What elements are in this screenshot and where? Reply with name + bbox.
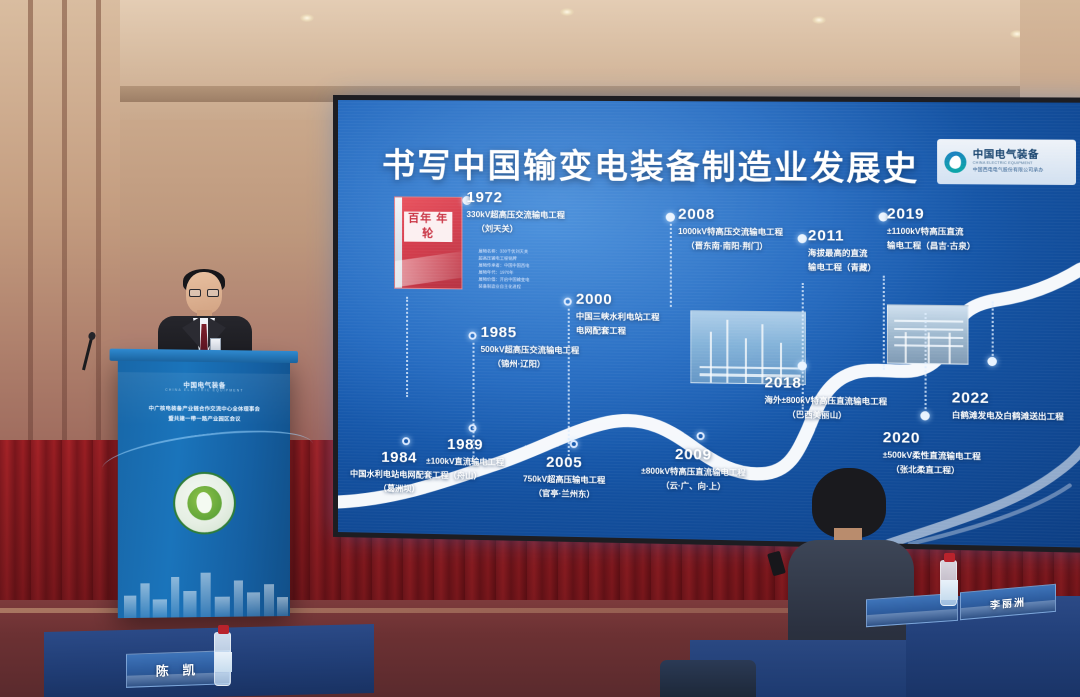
event-line2: 电网配套工程 — [576, 324, 660, 337]
event-line2: （晋东南·南阳·荆门） — [678, 239, 783, 252]
wood-strip — [62, 0, 67, 470]
event-year: 2008 — [678, 206, 783, 224]
emblem-inner-mark — [187, 486, 221, 520]
logo-mark-icon — [944, 151, 966, 173]
valve-column — [905, 332, 907, 363]
logo-subtitle: 中国西电电气股份有限公司承办 — [973, 168, 1044, 174]
timeline-event-1972[interactable]: 1972 330kV超高压交流输电工程 （刘天关） — [466, 189, 565, 235]
timeline-node-1985[interactable] — [468, 332, 476, 340]
event-line2: （云·广、向·上） — [641, 479, 746, 493]
event-year: 2022 — [952, 389, 1064, 408]
podium-banner-line1: 中广核电装备产业链合作交流中心全体理事会 — [149, 404, 260, 413]
event-year: 2009 — [641, 445, 746, 464]
converter-station-photo-2019 — [887, 304, 969, 364]
skyline-building — [215, 597, 230, 617]
podium-logo-subtitle: CHINA ELECTRIC EQUIPMENT — [165, 388, 243, 393]
event-line2: （巴西美丽山） — [764, 408, 887, 422]
event-year: 1985 — [481, 324, 580, 342]
event-line2: （刘天关） — [466, 222, 565, 235]
timeline-connector — [406, 297, 408, 397]
event-year: 1989 — [426, 435, 504, 453]
insulator-row — [700, 366, 801, 369]
event-year: 2018 — [764, 374, 887, 393]
ceiling-band — [0, 86, 1080, 102]
wood-strip — [28, 0, 33, 470]
artifact-description: 展物名称：330千伏刘天关 超高压输电工程铭牌 展物传承者：中国中国西电 展物年… — [479, 247, 560, 290]
timeline-event-2005[interactable]: 2005 750kV超高压输电工程 （官亭·兰州东） — [523, 453, 605, 500]
bottle-cap — [218, 625, 229, 634]
timeline-node-2000[interactable] — [564, 298, 572, 306]
event-line2: （官亭·兰州东） — [523, 486, 605, 500]
skyline-building — [153, 599, 167, 617]
skyline-building — [171, 577, 179, 618]
timeline-event-2000[interactable]: 2000 中国三峡水利电站工程 电网配套工程 — [576, 291, 660, 338]
event-line2: 输电工程（青藏） — [808, 261, 876, 274]
event-line1: 1000kV特高压交流输电工程 — [678, 225, 783, 238]
podium-top-surface — [110, 349, 298, 363]
skyline-building — [247, 592, 260, 616]
event-year: 2000 — [576, 291, 660, 309]
ceiling-downlight — [812, 16, 826, 24]
timeline-event-2011[interactable]: 2011 海拔最高的直流 输电工程（青藏） — [808, 227, 876, 274]
artifact-book-photo: 百年 年轮 — [394, 196, 462, 289]
timeline-node-2008[interactable] — [666, 213, 675, 222]
skyline-building — [124, 596, 136, 618]
skyline-building — [277, 597, 288, 616]
audience-chair — [660, 660, 756, 697]
speaker-glasses — [189, 289, 219, 297]
water-bottle — [940, 560, 957, 606]
timeline-event-2019[interactable]: 2019 ±1100kV特高压直流 输电工程（昌吉·古泉） — [887, 205, 976, 252]
event-line1: 330kV超高压交流输电工程 — [466, 208, 565, 221]
event-year: 2011 — [808, 227, 876, 245]
event-line2 — [952, 423, 1064, 425]
timeline-event-1985[interactable]: 1985 500kV超高压交流输电工程 （锦州·辽阳） — [481, 324, 580, 371]
timeline-connector — [670, 224, 672, 307]
timeline-node-1984[interactable] — [402, 437, 410, 445]
valve-hall-line — [894, 328, 963, 331]
valve-column — [928, 332, 930, 363]
artifact-line: 装备制造业自主化进程 — [479, 283, 560, 291]
event-line1: ±500kV柔性直流输电工程 — [883, 448, 981, 462]
podium-banner-line2: 暨共建一带一路产业园区会议 — [168, 414, 240, 423]
event-line1: 500kV超高压交流输电工程 — [481, 343, 580, 356]
skyline-building — [201, 573, 211, 617]
skyline-building — [183, 591, 196, 617]
association-emblem — [173, 472, 236, 535]
event-line2: （锦州·辽阳） — [481, 357, 580, 370]
water-bottle — [214, 632, 231, 686]
valve-hall-line — [894, 320, 963, 323]
timeline-connector — [925, 313, 927, 413]
timeline-node-2011[interactable] — [798, 234, 807, 243]
book-swoosh-decor — [394, 249, 462, 288]
timeline-event-2022[interactable]: 2022 白鹤滩发电及白鹤滩送出工程 — [952, 389, 1064, 425]
podium-skyline-graphic — [118, 542, 290, 618]
event-line1: 中国三峡水利电站工程 — [576, 310, 660, 323]
skyline-building — [264, 584, 274, 616]
event-year: 1972 — [466, 189, 565, 207]
timeline-node-2005[interactable] — [570, 440, 578, 448]
event-year: 2020 — [883, 429, 981, 448]
bottle-cap — [944, 553, 955, 562]
event-line1: 750kV超高压输电工程 — [523, 472, 605, 486]
event-year: 2005 — [523, 453, 605, 472]
logo-name-en: CHINA ELECTRIC EQUIPMENT — [973, 162, 1044, 166]
timeline-connector — [883, 276, 885, 370]
event-line2: （舟山） — [426, 469, 504, 483]
speaking-podium: 中国电气装备 CHINA ELECTRIC EQUIPMENT 中广核电装备产业… — [118, 358, 290, 618]
ceiling-downlight — [300, 14, 314, 22]
event-line1: 海外±800kV特高压直流输电工程 — [764, 393, 887, 407]
timeline-connector — [992, 301, 994, 358]
valve-column — [949, 333, 951, 364]
event-line1: 白鹤滩发电及白鹤滩送出工程 — [952, 409, 1064, 423]
event-line2: 输电工程（昌吉·古泉） — [887, 239, 976, 252]
timeline-event-2008[interactable]: 2008 1000kV特高压交流输电工程 （晋东南·南阳·荆门） — [678, 206, 783, 253]
corporate-logo: 中国电气装备 CHINA ELECTRIC EQUIPMENT 中国西电电气股份… — [937, 139, 1076, 185]
event-line1: ±100kV直流输电工程 — [426, 455, 504, 468]
timeline-event-2009[interactable]: 2009 ±800kV特高压直流输电工程 （云·广、向·上） — [641, 445, 746, 493]
wood-strip — [96, 0, 101, 470]
event-year: 2019 — [887, 205, 976, 223]
book-cover-badge: 百年 年轮 — [404, 212, 452, 243]
logo-text-block: 中国电气装备 CHINA ELECTRIC EQUIPMENT 中国西电电气股份… — [973, 151, 1044, 174]
slide-title: 书写中国输变电装备制造业发展史 — [382, 138, 919, 190]
timeline-node-2018[interactable] — [798, 361, 807, 370]
event-line1: ±1100kV特高压直流 — [887, 225, 976, 238]
event-line1: ±800kV特高压直流输电工程 — [641, 464, 746, 478]
conference-hall-scene: 书写中国输变电装备制造业发展史 中国电气装备 CHINA ELECTRIC EQ… — [0, 0, 1080, 697]
book-cover-text: 百年 年轮 — [404, 212, 452, 243]
timeline-event-1989[interactable]: 1989 ±100kV直流输电工程 （舟山） — [426, 435, 504, 482]
skyline-building — [234, 580, 243, 616]
bottle-label — [941, 580, 958, 600]
bottle-label — [215, 652, 232, 672]
ceiling-downlight — [560, 8, 574, 16]
event-line1: 海拔最高的直流 — [808, 246, 876, 259]
timeline-event-2018[interactable]: 2018 海外±800kV特高压直流输电工程 （巴西美丽山） — [764, 374, 887, 422]
led-presentation-screen[interactable]: 书写中国输变电装备制造业发展史 中国电气装备 CHINA ELECTRIC EQ… — [338, 100, 1080, 548]
skyline-building — [140, 583, 149, 618]
timeline-node-2009[interactable] — [697, 432, 705, 440]
timeline-node-1989[interactable] — [468, 424, 476, 432]
event-line2: （葛洲坝） — [350, 481, 449, 495]
